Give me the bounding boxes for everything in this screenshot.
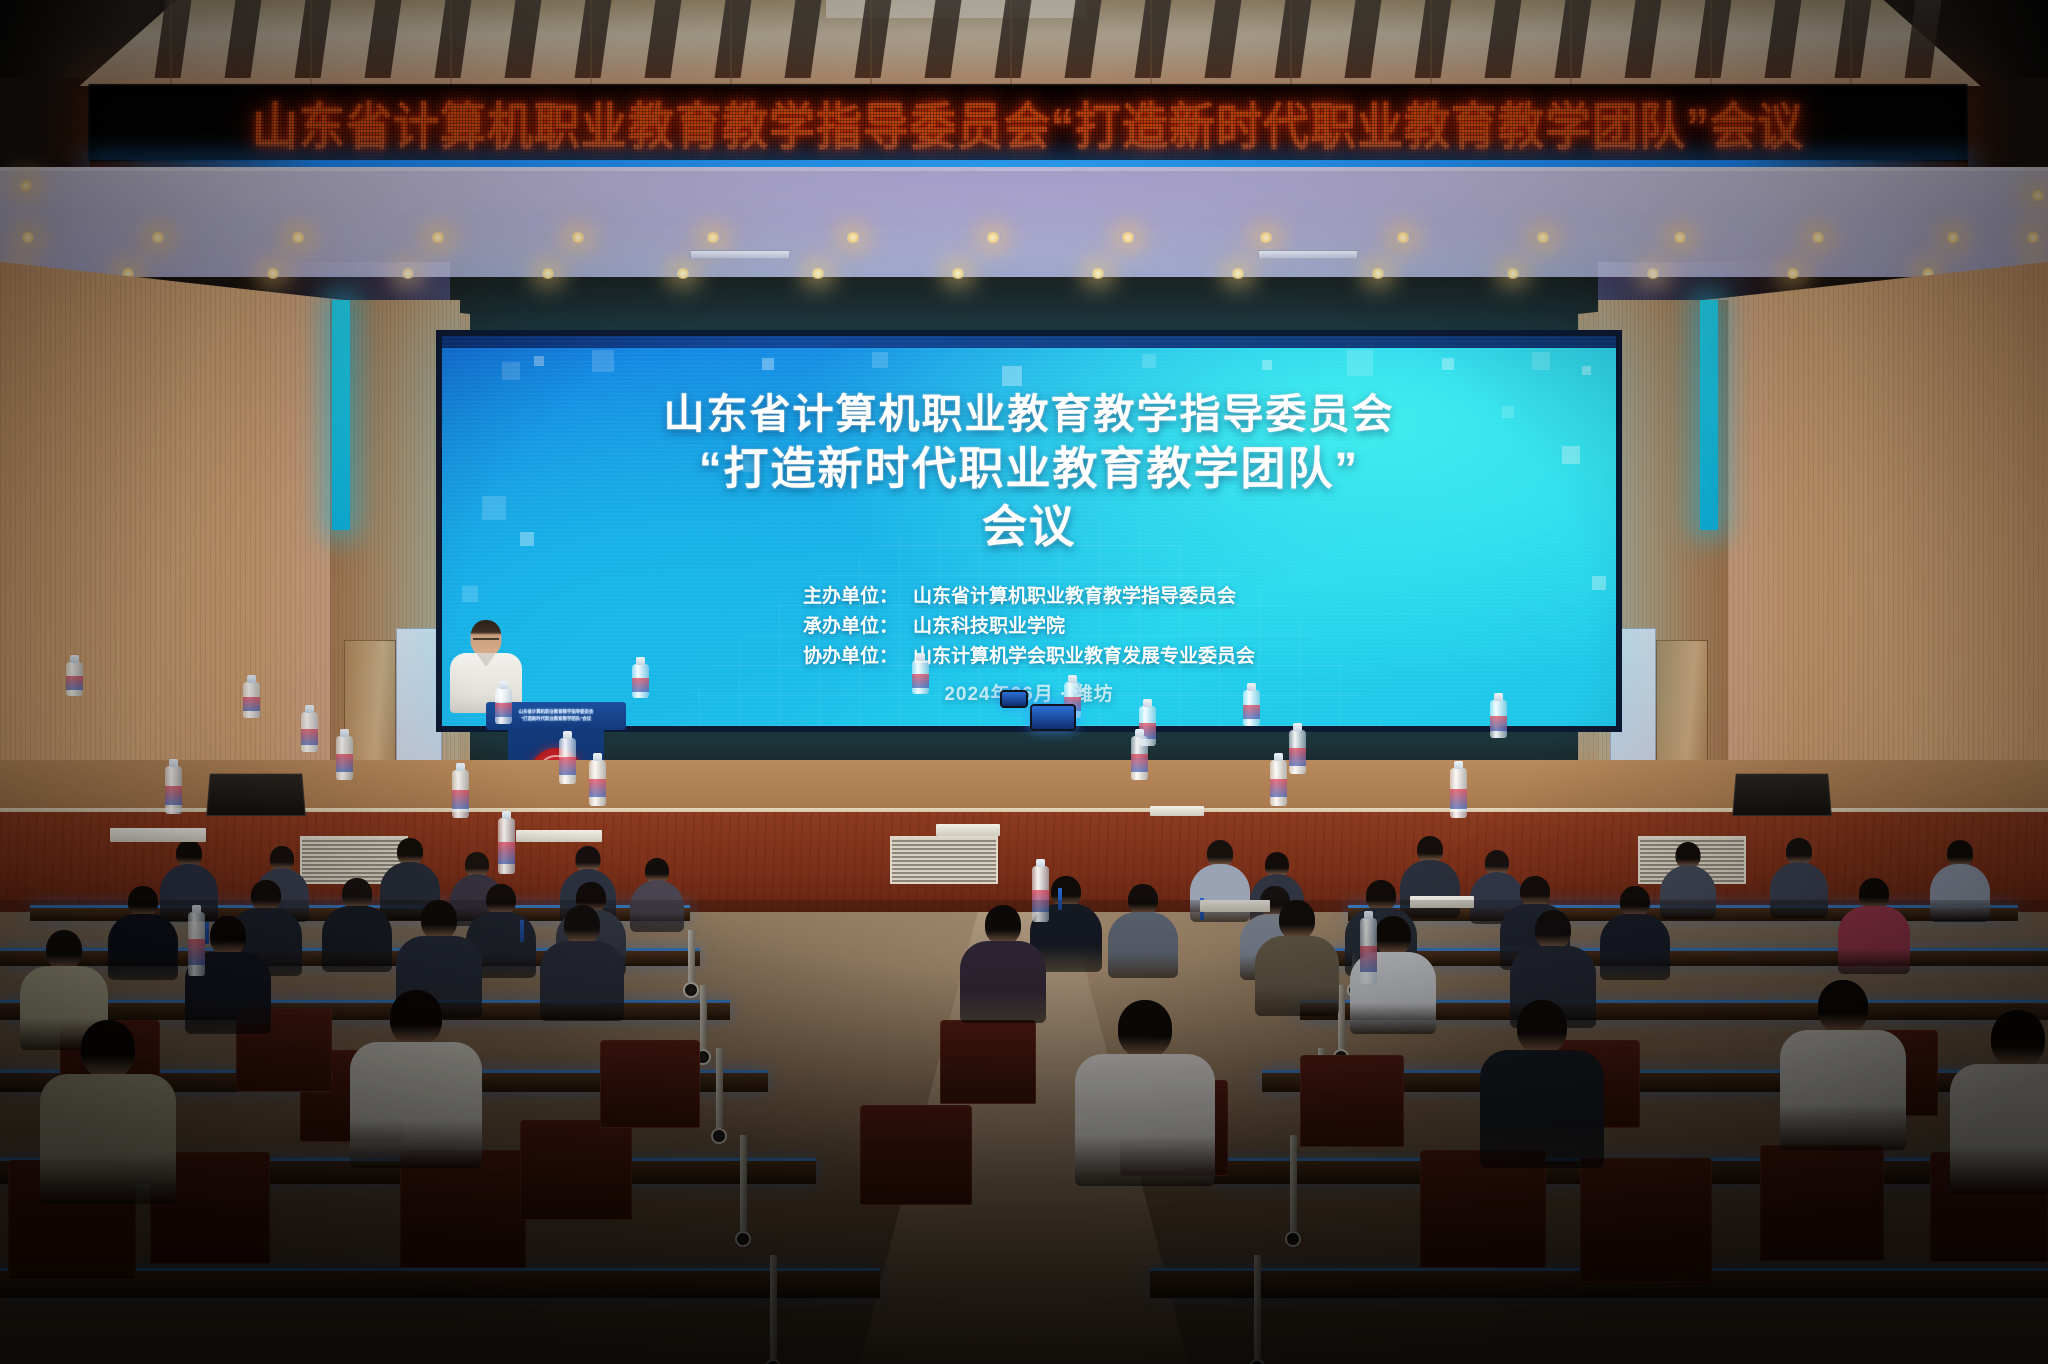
glasses-icon: [473, 638, 499, 644]
bottle-label: [912, 674, 929, 688]
attendee-head: [390, 990, 442, 1046]
bottle-label: [559, 757, 576, 775]
attendee-body: [960, 941, 1046, 1023]
attendee: [1930, 840, 1990, 926]
downlight: [1945, 232, 1961, 243]
attendee-body: [40, 1074, 176, 1204]
stage-monitor-left: [206, 774, 306, 816]
slide-title-line2: “打造新时代职业教育教学团队”: [699, 440, 1359, 498]
chair: [1580, 1158, 1712, 1282]
attendee: [322, 878, 392, 976]
bottle-label: [452, 790, 469, 809]
attendee-head: [1118, 1000, 1172, 1058]
attendee-head: [421, 900, 457, 940]
water-bottle: [1032, 866, 1049, 922]
lanyard: [205, 922, 209, 944]
downlight: [570, 232, 586, 243]
bottle-label: [301, 729, 318, 745]
chair: [860, 1105, 972, 1205]
attendee-head: [1818, 980, 1868, 1034]
attendee-body: [1838, 906, 1910, 974]
organizer-row: 主办单位： 山东省计算机职业教育教学指导委员会: [803, 582, 1255, 612]
water-bottle: [1289, 730, 1306, 774]
ceiling-vent-right: [1258, 250, 1358, 259]
paper-document: [1150, 806, 1204, 816]
ceiling-vent-left: [690, 250, 790, 259]
water-bottle: [498, 818, 515, 874]
desk-leg: [770, 1255, 777, 1359]
water-bottle: [336, 736, 353, 780]
soffit-seam: [590, 0, 592, 86]
water-bottle: [632, 664, 649, 698]
attendee: [40, 1020, 176, 1208]
soffit-seam: [1850, 0, 1852, 86]
downlight: [985, 232, 1001, 243]
attendee: [1255, 900, 1339, 1020]
bottle-label: [66, 676, 83, 690]
bottle-label: [1270, 779, 1287, 797]
wall-light-strip-right: [1700, 300, 1718, 530]
organizer-row: 承办单位： 山东科技职业学院: [803, 612, 1255, 642]
downlight: [845, 232, 861, 243]
paper-document: [110, 828, 206, 842]
bottle-label: [495, 703, 512, 717]
water-bottle: [1243, 690, 1260, 726]
attendee: [630, 858, 684, 936]
water-bottle: [1360, 918, 1377, 984]
downlight: [1535, 232, 1551, 243]
downlight: [1090, 268, 1106, 279]
soffit-seam: [450, 0, 452, 86]
desk-caster: [711, 1128, 727, 1144]
desk-leg: [716, 1048, 723, 1128]
water-bottle: [452, 770, 469, 818]
downlight: [1120, 232, 1136, 243]
led-banner-text: 山东省计算机职业教育教学指导委员会“打造新时代职业教育教学团队”会议: [252, 87, 1805, 158]
organizer-label: 协办单位：: [803, 642, 913, 672]
wall-light-strip-left: [332, 300, 350, 530]
water-bottle: [912, 660, 929, 694]
downlight: [430, 232, 446, 243]
soffit-seam: [1290, 0, 1292, 86]
downlight: [150, 232, 166, 243]
attendee-head: [1991, 1010, 2045, 1068]
attendee-head: [1375, 916, 1411, 956]
downlight: [705, 232, 721, 243]
water-bottle: [1270, 760, 1287, 806]
bottle-label: [589, 779, 606, 797]
attendee: [960, 905, 1046, 1027]
bottle-label: [336, 754, 353, 772]
chair: [1760, 1145, 1884, 1261]
bottle-label: [1490, 716, 1507, 731]
podium-sign-line2: “打造新时代职业教育教学团队”会议: [521, 716, 591, 723]
attendee-body: [630, 880, 684, 932]
desk-caster: [683, 982, 699, 998]
downlight: [1258, 232, 1274, 243]
bottle-label: [1032, 890, 1049, 912]
bottle-label: [1360, 946, 1377, 972]
attendee-body: [108, 914, 178, 980]
attendee: [1838, 878, 1910, 978]
downlight: [950, 268, 966, 279]
attendee: [1770, 838, 1828, 922]
attendee: [1480, 1000, 1604, 1172]
smartphone: [1000, 690, 1028, 708]
attendee: [1108, 884, 1178, 982]
attendee-head: [81, 1020, 135, 1078]
water-bottle: [559, 738, 576, 784]
attendee-body: [1950, 1064, 2048, 1194]
attendee-body: [1780, 1030, 1906, 1150]
lanyard: [520, 920, 524, 942]
attendee: [1075, 1000, 1215, 1190]
soffit-seam: [310, 0, 312, 86]
attendee-head: [985, 905, 1021, 945]
stage-monitor-right: [1732, 774, 1832, 816]
bottle-label: [188, 939, 205, 965]
bottle-label: [1131, 754, 1148, 772]
downlight: [1505, 268, 1521, 279]
soffit-seam: [870, 0, 872, 86]
bottle-label: [632, 678, 649, 692]
led-banner-underglow: [90, 160, 1968, 167]
chair: [940, 1020, 1036, 1104]
slide-title-line3: 会议: [982, 498, 1076, 556]
downlight: [675, 268, 691, 279]
desk-leg: [1290, 1135, 1297, 1231]
soffit-seam: [1570, 0, 1572, 86]
attendee-head: [1517, 1000, 1567, 1054]
attendee-body: [1075, 1054, 1215, 1186]
upper-wall: [0, 167, 2048, 277]
attendee-body: [1930, 864, 1990, 922]
attendee-body: [540, 941, 624, 1021]
lanyard: [1058, 888, 1062, 910]
attendee-body: [1255, 936, 1339, 1016]
desk-leg: [740, 1135, 747, 1231]
bottle-label: [165, 786, 182, 805]
soffit-seam: [730, 0, 732, 86]
attendee-body: [1108, 912, 1178, 978]
chair: [1300, 1055, 1404, 1147]
soffit-seam: [1710, 0, 1712, 86]
attendee: [108, 886, 178, 984]
led-banner: 山东省计算机职业教育教学指导委员会“打造新时代职业教育教学团队”会议: [88, 84, 1969, 162]
water-bottle: [66, 662, 83, 696]
desk-leg: [1338, 985, 1345, 1049]
attendee-body: [322, 906, 392, 972]
chair: [520, 1120, 632, 1220]
smartphone: [1030, 704, 1076, 731]
downlight: [290, 232, 306, 243]
organizer-row: 协办单位： 山东计算机学会职业教育发展专业委员会: [803, 642, 1255, 672]
water-bottle: [1490, 700, 1507, 738]
slide-date-location: 2024年06月 · 潍坊: [944, 679, 1113, 706]
paper-document: [1410, 896, 1474, 908]
water-bottle: [243, 682, 260, 718]
water-bottle: [301, 712, 318, 752]
attendee: [350, 990, 482, 1172]
downlight: [2025, 232, 2041, 243]
paper-document: [1200, 900, 1270, 912]
water-bottle: [1131, 736, 1148, 780]
organizer-label: 承办单位：: [803, 612, 913, 642]
desk-caster: [1285, 1231, 1301, 1247]
organizer-value: 山东省计算机职业教育教学指导委员会: [913, 582, 1236, 612]
attendee-head: [1279, 900, 1315, 940]
attendee-body: [1770, 862, 1828, 918]
slide-title-line1: 山东省计算机职业教育教学指导委员会: [664, 388, 1395, 440]
attendee-body: [1600, 914, 1670, 980]
downlight: [1672, 232, 1688, 243]
downlight: [540, 268, 556, 279]
downlight: [1395, 232, 1411, 243]
downlight: [1810, 232, 1826, 243]
downlight: [1230, 268, 1246, 279]
water-bottle: [165, 766, 182, 814]
organizer-value: 山东计算机学会职业教育发展专业委员会: [913, 642, 1255, 672]
bottle-label: [243, 697, 260, 711]
attendee: [1950, 1010, 2048, 1198]
soffit-seam: [1430, 0, 1432, 86]
bottle-label: [1450, 789, 1467, 809]
water-bottle: [1450, 768, 1467, 818]
attendee-body: [350, 1042, 482, 1168]
bottle-label: [1289, 748, 1306, 766]
attendee: [1780, 980, 1906, 1154]
attendee-body: [1480, 1050, 1604, 1168]
water-bottle: [495, 688, 512, 724]
attendee: [1600, 886, 1670, 984]
attendee-head: [564, 905, 600, 945]
organizer-label: 主办单位：: [803, 582, 913, 612]
attendee: [540, 905, 624, 1025]
soffit-seam: [170, 0, 172, 86]
desk-row: [1332, 948, 2048, 966]
bottle-label: [1243, 705, 1260, 719]
paper-document: [936, 824, 1000, 836]
bottle-label: [498, 842, 515, 864]
desk-leg: [688, 930, 695, 982]
air-vent-2: [890, 836, 998, 884]
paper-document: [516, 830, 602, 842]
desk-leg: [700, 985, 707, 1049]
upper-wall-edge: [0, 167, 2048, 171]
water-bottle: [589, 760, 606, 806]
water-bottle: [188, 912, 205, 976]
chair: [600, 1040, 700, 1128]
attendee-head: [210, 916, 246, 956]
desk-caster: [735, 1231, 751, 1247]
downlight: [18, 180, 34, 191]
attendee-head: [1535, 910, 1571, 950]
soffit-seam: [1150, 0, 1152, 86]
downlight: [2030, 190, 2046, 201]
soffit-seam: [1010, 0, 1012, 86]
organizer-value: 山东科技职业学院: [913, 612, 1065, 642]
attendee-head: [46, 930, 82, 970]
downlight: [810, 268, 826, 279]
conference-hall-photo: 山东省计算机职业教育教学指导委员会“打造新时代职业教育教学团队”会议 山东省计算…: [0, 0, 2048, 1364]
slide-organizers: 主办单位： 山东省计算机职业教育教学指导委员会 承办单位： 山东科技职业学院 协…: [803, 582, 1255, 673]
podium-sign-line1: 山东省计算机职业教育教学指导委员会: [519, 709, 594, 716]
desk-leg: [1254, 1255, 1261, 1359]
downlight: [1370, 268, 1386, 279]
downlight: [20, 232, 36, 243]
